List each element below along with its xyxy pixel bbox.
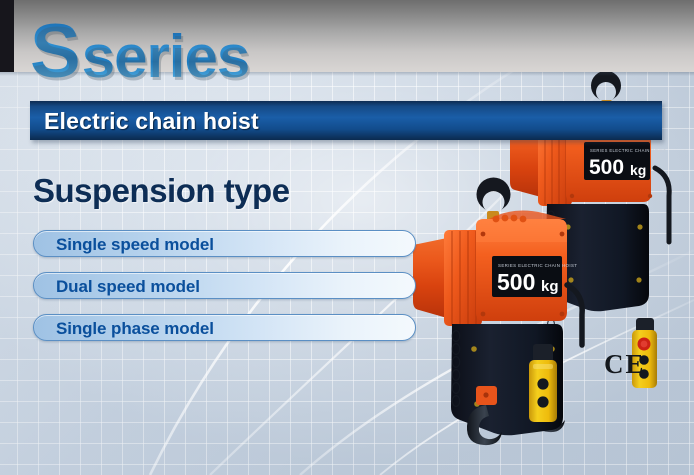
logo-rest: series — [82, 27, 250, 87]
banner-title: Electric chain hoist — [44, 108, 259, 135]
option-pill-label: Single speed model — [56, 235, 214, 255]
title-banner: Electric chain hoist — [30, 101, 662, 140]
hoist-unit-lower: SERIES ELECTRIC CHAIN HOIST 500 kg — [413, 177, 582, 445]
option-pill-label: Single phase model — [56, 319, 214, 339]
option-pill-dual-speed[interactable]: Dual speed model — [33, 272, 416, 299]
svg-text:500: 500 — [589, 156, 624, 179]
svg-text:kg: kg — [630, 162, 646, 178]
brand-logo: Sseries — [30, 14, 249, 90]
left-dark-bar — [0, 0, 14, 72]
logo-initial: S — [30, 14, 80, 90]
ce-mark-icon: CE — [604, 349, 646, 380]
svg-text:SERIES ELECTRIC CHAIN HOIST: SERIES ELECTRIC CHAIN HOIST — [498, 263, 577, 268]
option-pill-single-phase[interactable]: Single phase model — [33, 314, 416, 341]
svg-text:500: 500 — [497, 269, 535, 295]
poster-canvas: SERIES ELECTRIC CHAIN HOIST 500 kg — [0, 0, 694, 475]
svg-text:kg: kg — [541, 278, 559, 295]
section-heading: Suspension type — [33, 172, 290, 210]
pendant-control-front — [529, 344, 557, 422]
option-pill-label: Dual speed model — [56, 277, 200, 297]
svg-text:SERIES ELECTRIC CHAIN HOIST: SERIES ELECTRIC CHAIN HOIST — [590, 148, 666, 153]
option-pill-single-speed[interactable]: Single speed model — [33, 230, 416, 257]
